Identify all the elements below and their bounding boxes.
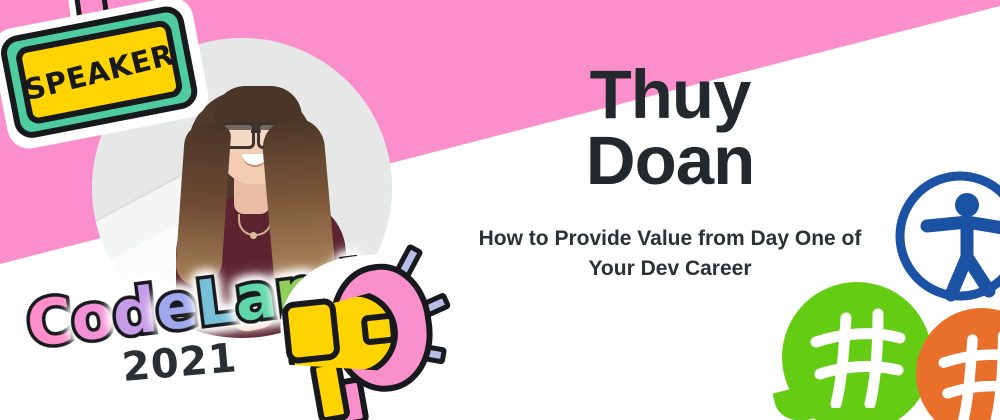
speech-bubble-green-glyph [810, 308, 906, 408]
portrait-pendant [250, 232, 257, 239]
megaphone-neck [361, 312, 398, 345]
speaker-announcement-card: SPEAKER CodeLand 2021 [0, 0, 1000, 420]
megaphone-cone-mouth [281, 297, 341, 364]
talk-title: How to Provide Value from Day One of You… [450, 224, 890, 284]
codeland-year: 2021 [120, 335, 239, 391]
speaker-first-name: Thuy [450, 62, 890, 128]
speaker-last-name: Doan [450, 128, 890, 194]
speech-bubble-orange [916, 308, 1000, 420]
accessibility-icon [889, 165, 1000, 307]
speech-bubble-orange-glyph [938, 330, 1000, 420]
speaker-text-block: Thuy Doan How to Provide Value from Day … [450, 62, 890, 284]
codeland-logo: CodeLand 2021 [26, 268, 306, 398]
talk-title-line-2: Your Dev Career [450, 254, 890, 284]
talk-title-line-1: How to Provide Value from Day One of [450, 224, 890, 254]
